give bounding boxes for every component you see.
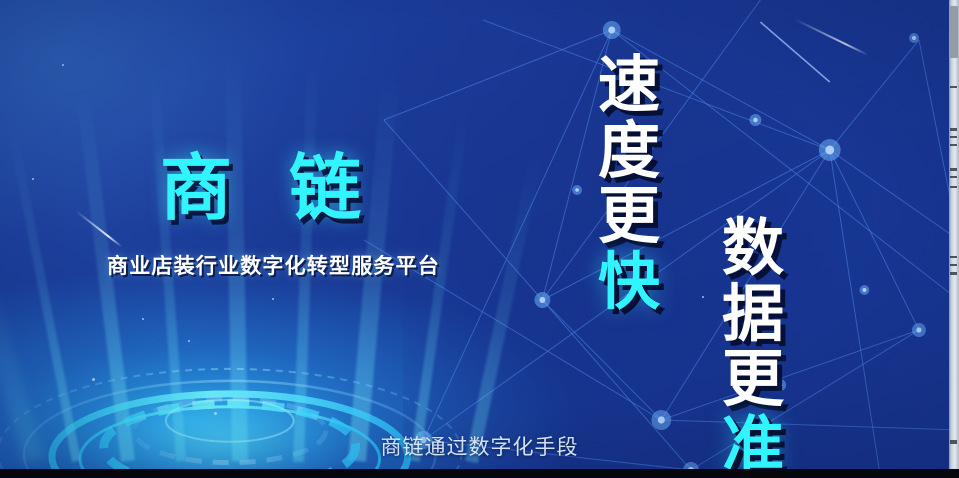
edge-mark	[950, 86, 957, 88]
slogan-speed-column: 速 度 更 快	[598, 52, 660, 315]
sparkle	[62, 64, 64, 66]
slogan-char-accent: 快	[598, 249, 660, 315]
edge-mark	[950, 256, 957, 258]
brand-title: 商 链	[160, 152, 377, 224]
brand-subtitle: 商业店装行业数字化转型服务平台	[107, 256, 440, 277]
edge-mark	[950, 128, 957, 131]
sparkle	[142, 318, 144, 320]
edge-mark	[950, 440, 957, 444]
slogan-char: 更	[722, 346, 784, 412]
scrollbar-thumb[interactable]	[950, 6, 958, 58]
slogan-char: 更	[598, 183, 660, 249]
slogan-char: 数	[722, 215, 784, 281]
sparkle	[214, 412, 217, 415]
edge-mark	[950, 186, 957, 188]
edge-mark	[950, 144, 957, 146]
sparkle	[272, 298, 274, 300]
edge-mark	[950, 264, 957, 266]
banner-canvas: 商 链 商业店装行业数字化转型服务平台 速 度 更 快 数 据 更 准 商链通过…	[0, 0, 959, 478]
network-nodes	[415, 21, 959, 478]
bottom-caption: 商链通过数字化手段	[0, 431, 959, 461]
slogan-char: 速	[598, 52, 660, 118]
edge-mark	[950, 136, 957, 138]
edge-mark	[950, 176, 957, 178]
sparkle	[32, 178, 34, 180]
edge-mark	[950, 168, 957, 171]
sparkle	[702, 296, 704, 298]
right-page-edge	[949, 0, 959, 478]
edge-mark	[950, 272, 957, 275]
hud-outer-dashed-ring	[0, 369, 462, 478]
slogan-char: 据	[722, 281, 784, 347]
sparkle	[188, 340, 190, 342]
sparkle	[92, 378, 95, 381]
slogan-char: 度	[598, 118, 660, 184]
bottom-chrome-bar	[0, 469, 959, 478]
